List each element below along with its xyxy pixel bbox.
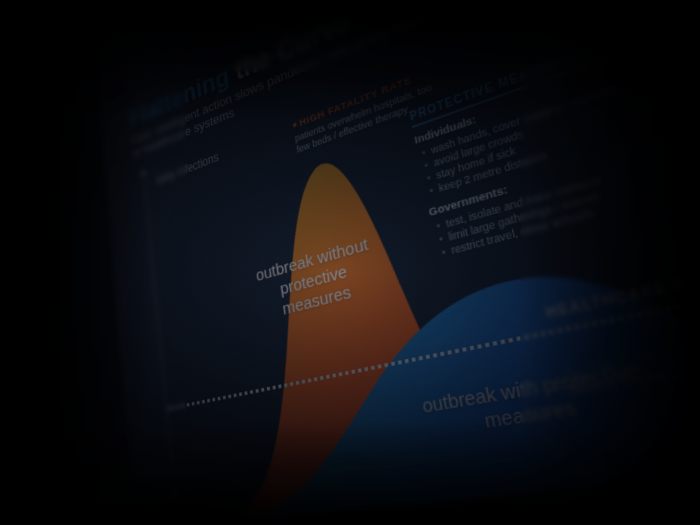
infographic-card: Flattening the Curve Fast, intelligent a… [103, 0, 700, 525]
monitor-plane: Flattening the Curve Fast, intelligent a… [0, 0, 700, 525]
bullet-icon [293, 123, 297, 128]
bullet-icon [565, 369, 572, 376]
photo-scene: Flattening the Curve Fast, intelligent a… [0, 0, 700, 525]
monitor-screen: Flattening the Curve Fast, intelligent a… [91, 0, 700, 525]
